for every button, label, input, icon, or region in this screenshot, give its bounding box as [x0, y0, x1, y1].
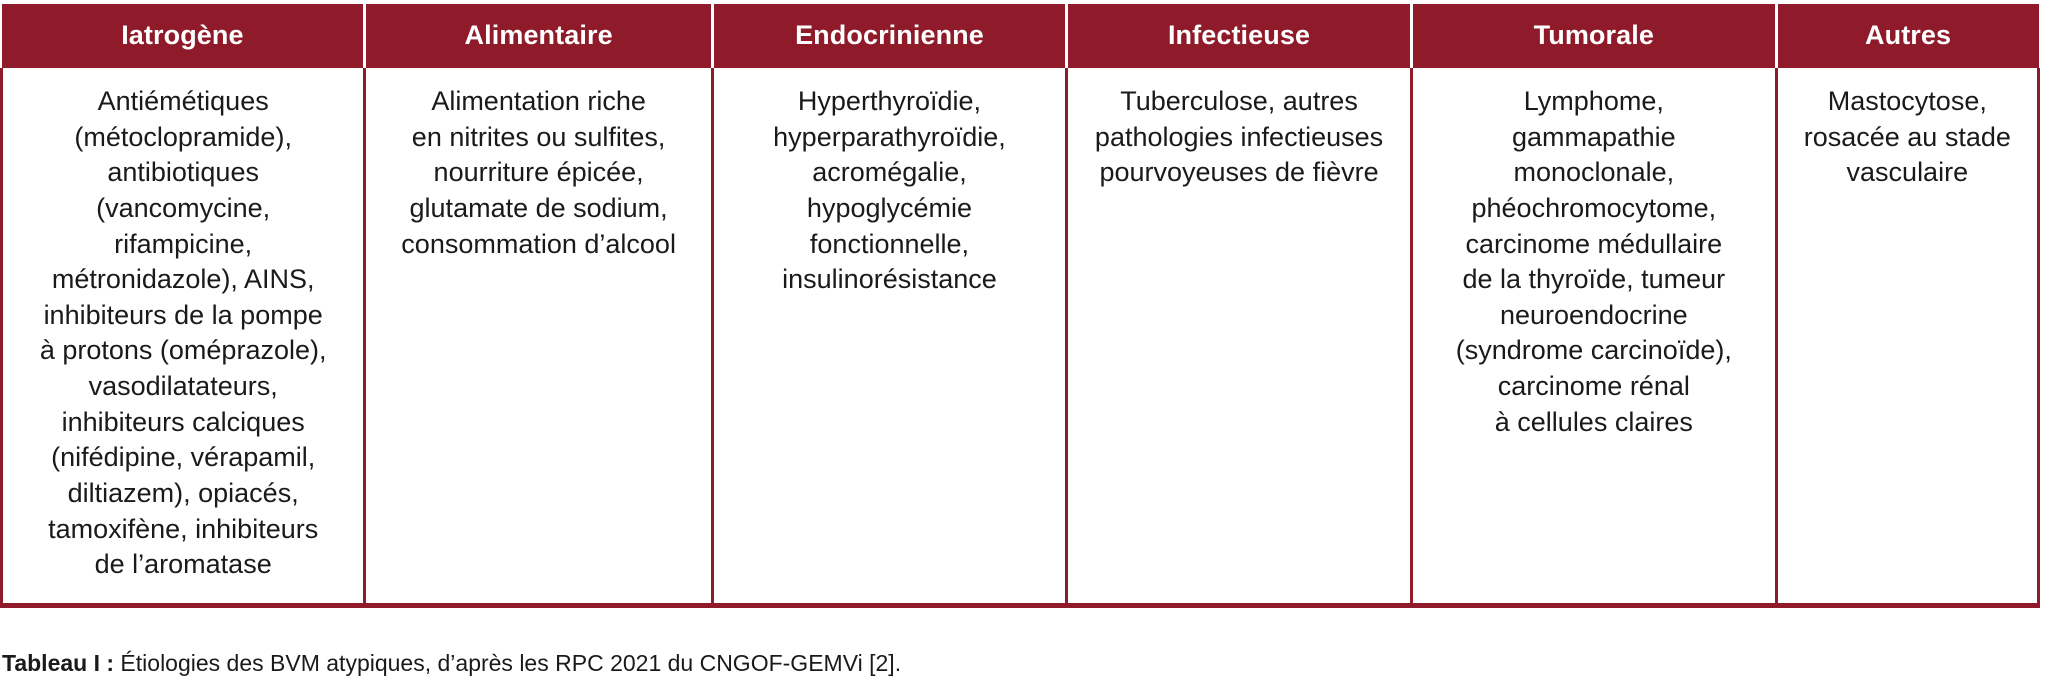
cell-text-tumorale: Lymphome, gammapathie monoclonale, phéoc… [1421, 84, 1767, 440]
table-caption: Tableau I : Étiologies des BVM atypiques… [2, 650, 901, 677]
cell-autres: Mastocytose, rosacée au stade vasculaire [1776, 68, 2038, 605]
cell-text-autres: Mastocytose, rosacée au stade vasculaire [1786, 84, 2029, 191]
cell-text-endocrinienne: Hyperthyroïdie, hyperparathyroïdie, acro… [722, 84, 1057, 298]
column-header-endocrinienne: Endocrinienne [712, 4, 1066, 68]
table-header-row: Iatrogène Alimentaire Endocrinienne Infe… [2, 4, 2039, 68]
etiologies-table: Iatrogène Alimentaire Endocrinienne Infe… [0, 4, 2040, 608]
column-header-autres: Autres [1776, 4, 2038, 68]
cell-text-iatrogene: Antiémétiques (métoclopramide), antibiot… [11, 84, 355, 583]
document-page: Iatrogène Alimentaire Endocrinienne Infe… [0, 0, 2048, 687]
caption-label: Tableau I : [2, 650, 114, 676]
table-row: Antiémétiques (métoclopramide), antibiot… [2, 68, 2039, 605]
cell-endocrinienne: Hyperthyroïdie, hyperparathyroïdie, acro… [712, 68, 1066, 605]
column-header-infectieuse: Infectieuse [1067, 4, 1412, 68]
cell-tumorale: Lymphome, gammapathie monoclonale, phéoc… [1412, 68, 1777, 605]
cell-alimentaire: Alimentation riche en nitrites ou sulfit… [365, 68, 713, 605]
cell-iatrogene: Antiémétiques (métoclopramide), antibiot… [2, 68, 365, 605]
caption-text: Étiologies des BVM atypiques, d’après le… [114, 650, 901, 676]
cell-text-infectieuse: Tuberculose, autres pathologies infectie… [1076, 84, 1402, 191]
cell-infectieuse: Tuberculose, autres pathologies infectie… [1067, 68, 1412, 605]
column-header-alimentaire: Alimentaire [365, 4, 713, 68]
cell-text-alimentaire: Alimentation riche en nitrites ou sulfit… [374, 84, 703, 262]
column-header-iatrogene: Iatrogène [2, 4, 365, 68]
column-header-tumorale: Tumorale [1412, 4, 1777, 68]
etiologies-table-container: Iatrogène Alimentaire Endocrinienne Infe… [0, 4, 2048, 608]
